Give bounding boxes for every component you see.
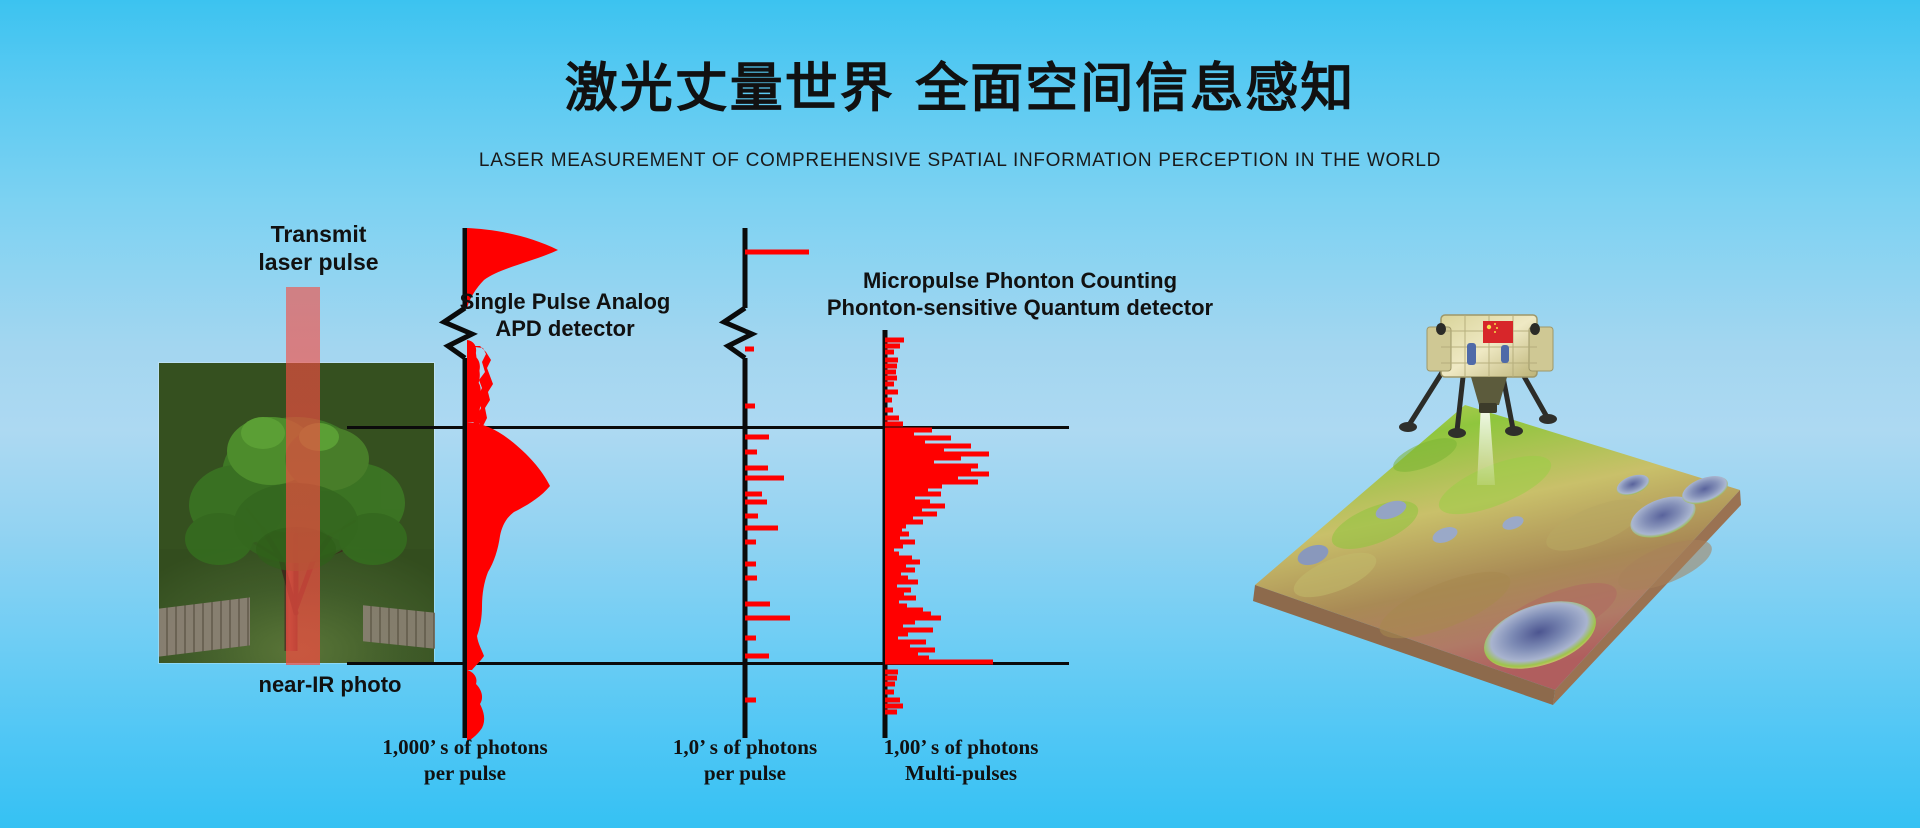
micropulse-detector-label: Micropulse Phonton Counting Phonton-sens…	[790, 268, 1250, 322]
page-subtitle: LASER MEASUREMENT OF COMPREHENSIVE SPATI…	[0, 150, 1920, 172]
laser-beam-icon	[286, 287, 320, 665]
photon-bar	[745, 466, 768, 471]
photon-bar	[885, 704, 903, 709]
page-title: 激光丈量世界 全面空间信息感知	[0, 46, 1920, 122]
photon-bar	[745, 698, 756, 703]
lunar-lander-terrain-render	[1195, 285, 1765, 705]
transmit-laser-pulse-label: Transmit laser pulse	[226, 220, 411, 276]
photon-bar	[885, 398, 892, 403]
china-flag-icon	[1483, 321, 1513, 343]
photon-bar	[745, 250, 809, 255]
photon-bar	[745, 476, 784, 481]
photon-bar	[745, 616, 790, 621]
photon-bar	[885, 710, 897, 715]
poster-canvas: 激光丈量世界 全面空间信息感知 LASER MEASUREMENT OF COM…	[0, 0, 1920, 828]
photon-bar	[745, 514, 758, 519]
photon-bar	[885, 660, 993, 665]
near-ir-photo-label: near-IR photo	[215, 672, 445, 699]
photon-bar	[885, 408, 893, 413]
photon-bar	[885, 390, 898, 395]
terrain-mesh-icon	[1253, 405, 1741, 705]
photon-bar	[745, 450, 757, 455]
photon-count-label-analog: 1,000’ s of photons per pulse	[330, 734, 600, 787]
photon-bar	[885, 416, 899, 421]
photon-bar	[885, 376, 897, 381]
photon-bar	[745, 636, 756, 641]
photon-bar	[885, 382, 894, 387]
photon-bar	[885, 350, 894, 355]
photon-bar	[885, 676, 897, 681]
photon-bar	[745, 540, 756, 545]
apd-detector-label: Single Pulse Analog APD detector	[420, 289, 710, 343]
photon-bar	[885, 422, 903, 427]
photon-bar	[745, 576, 757, 581]
photon-bar	[885, 370, 896, 375]
photon-bar	[885, 338, 904, 343]
photon-bar	[745, 562, 756, 567]
photon-bar	[885, 698, 900, 703]
photon-count-label-dense: 1,00’ s of photons Multi-pulses	[836, 734, 1086, 787]
photon-bar	[745, 347, 754, 352]
photon-bar	[745, 602, 770, 607]
photon-bar	[885, 670, 898, 675]
photon-bar	[745, 654, 769, 659]
photon-count-label-sparse: 1,0’ s of photons per pulse	[620, 734, 870, 787]
photon-bar	[885, 344, 900, 349]
photon-bar	[745, 492, 762, 497]
photon-bar	[745, 404, 755, 409]
dense-photon-bars	[885, 338, 993, 715]
photon-bar	[885, 364, 897, 369]
photon-bar	[885, 358, 898, 363]
photon-bar	[885, 690, 894, 695]
photon-bar	[745, 500, 767, 505]
photon-bar	[745, 526, 778, 531]
photon-bar	[885, 682, 895, 687]
photon-bar	[745, 435, 769, 440]
